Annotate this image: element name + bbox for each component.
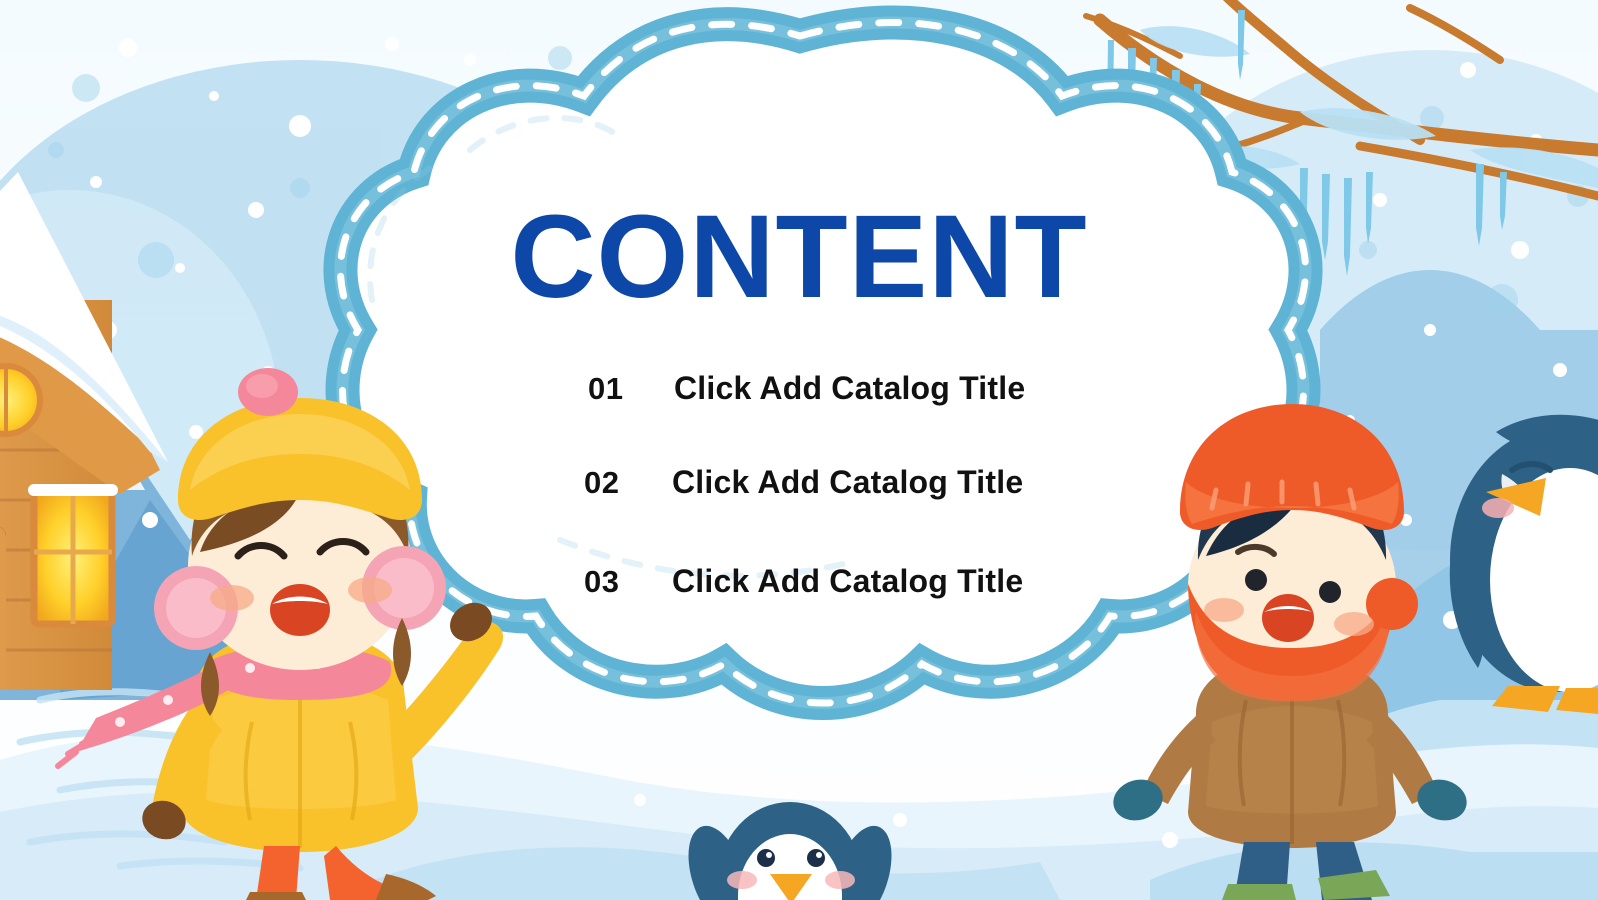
list-item[interactable]: 01 Click Add Catalog Title — [588, 370, 1025, 407]
list-item[interactable]: 03 Click Add Catalog Title — [584, 563, 1023, 600]
list-item[interactable]: 02 Click Add Catalog Title — [584, 464, 1023, 501]
toc-item-label: Click Add Catalog Title — [674, 370, 1025, 407]
toc-number: 03 — [584, 564, 672, 600]
page-title: CONTENT — [0, 196, 1598, 320]
text-layer: CONTENT 01 Click Add Catalog Title 02 Cl… — [0, 0, 1598, 900]
toc-item-label: Click Add Catalog Title — [672, 464, 1023, 501]
toc-item-label: Click Add Catalog Title — [672, 563, 1023, 600]
toc-number: 02 — [584, 465, 672, 501]
slide-canvas: CONTENT 01 Click Add Catalog Title 02 Cl… — [0, 0, 1598, 900]
toc-number: 01 — [588, 371, 674, 407]
